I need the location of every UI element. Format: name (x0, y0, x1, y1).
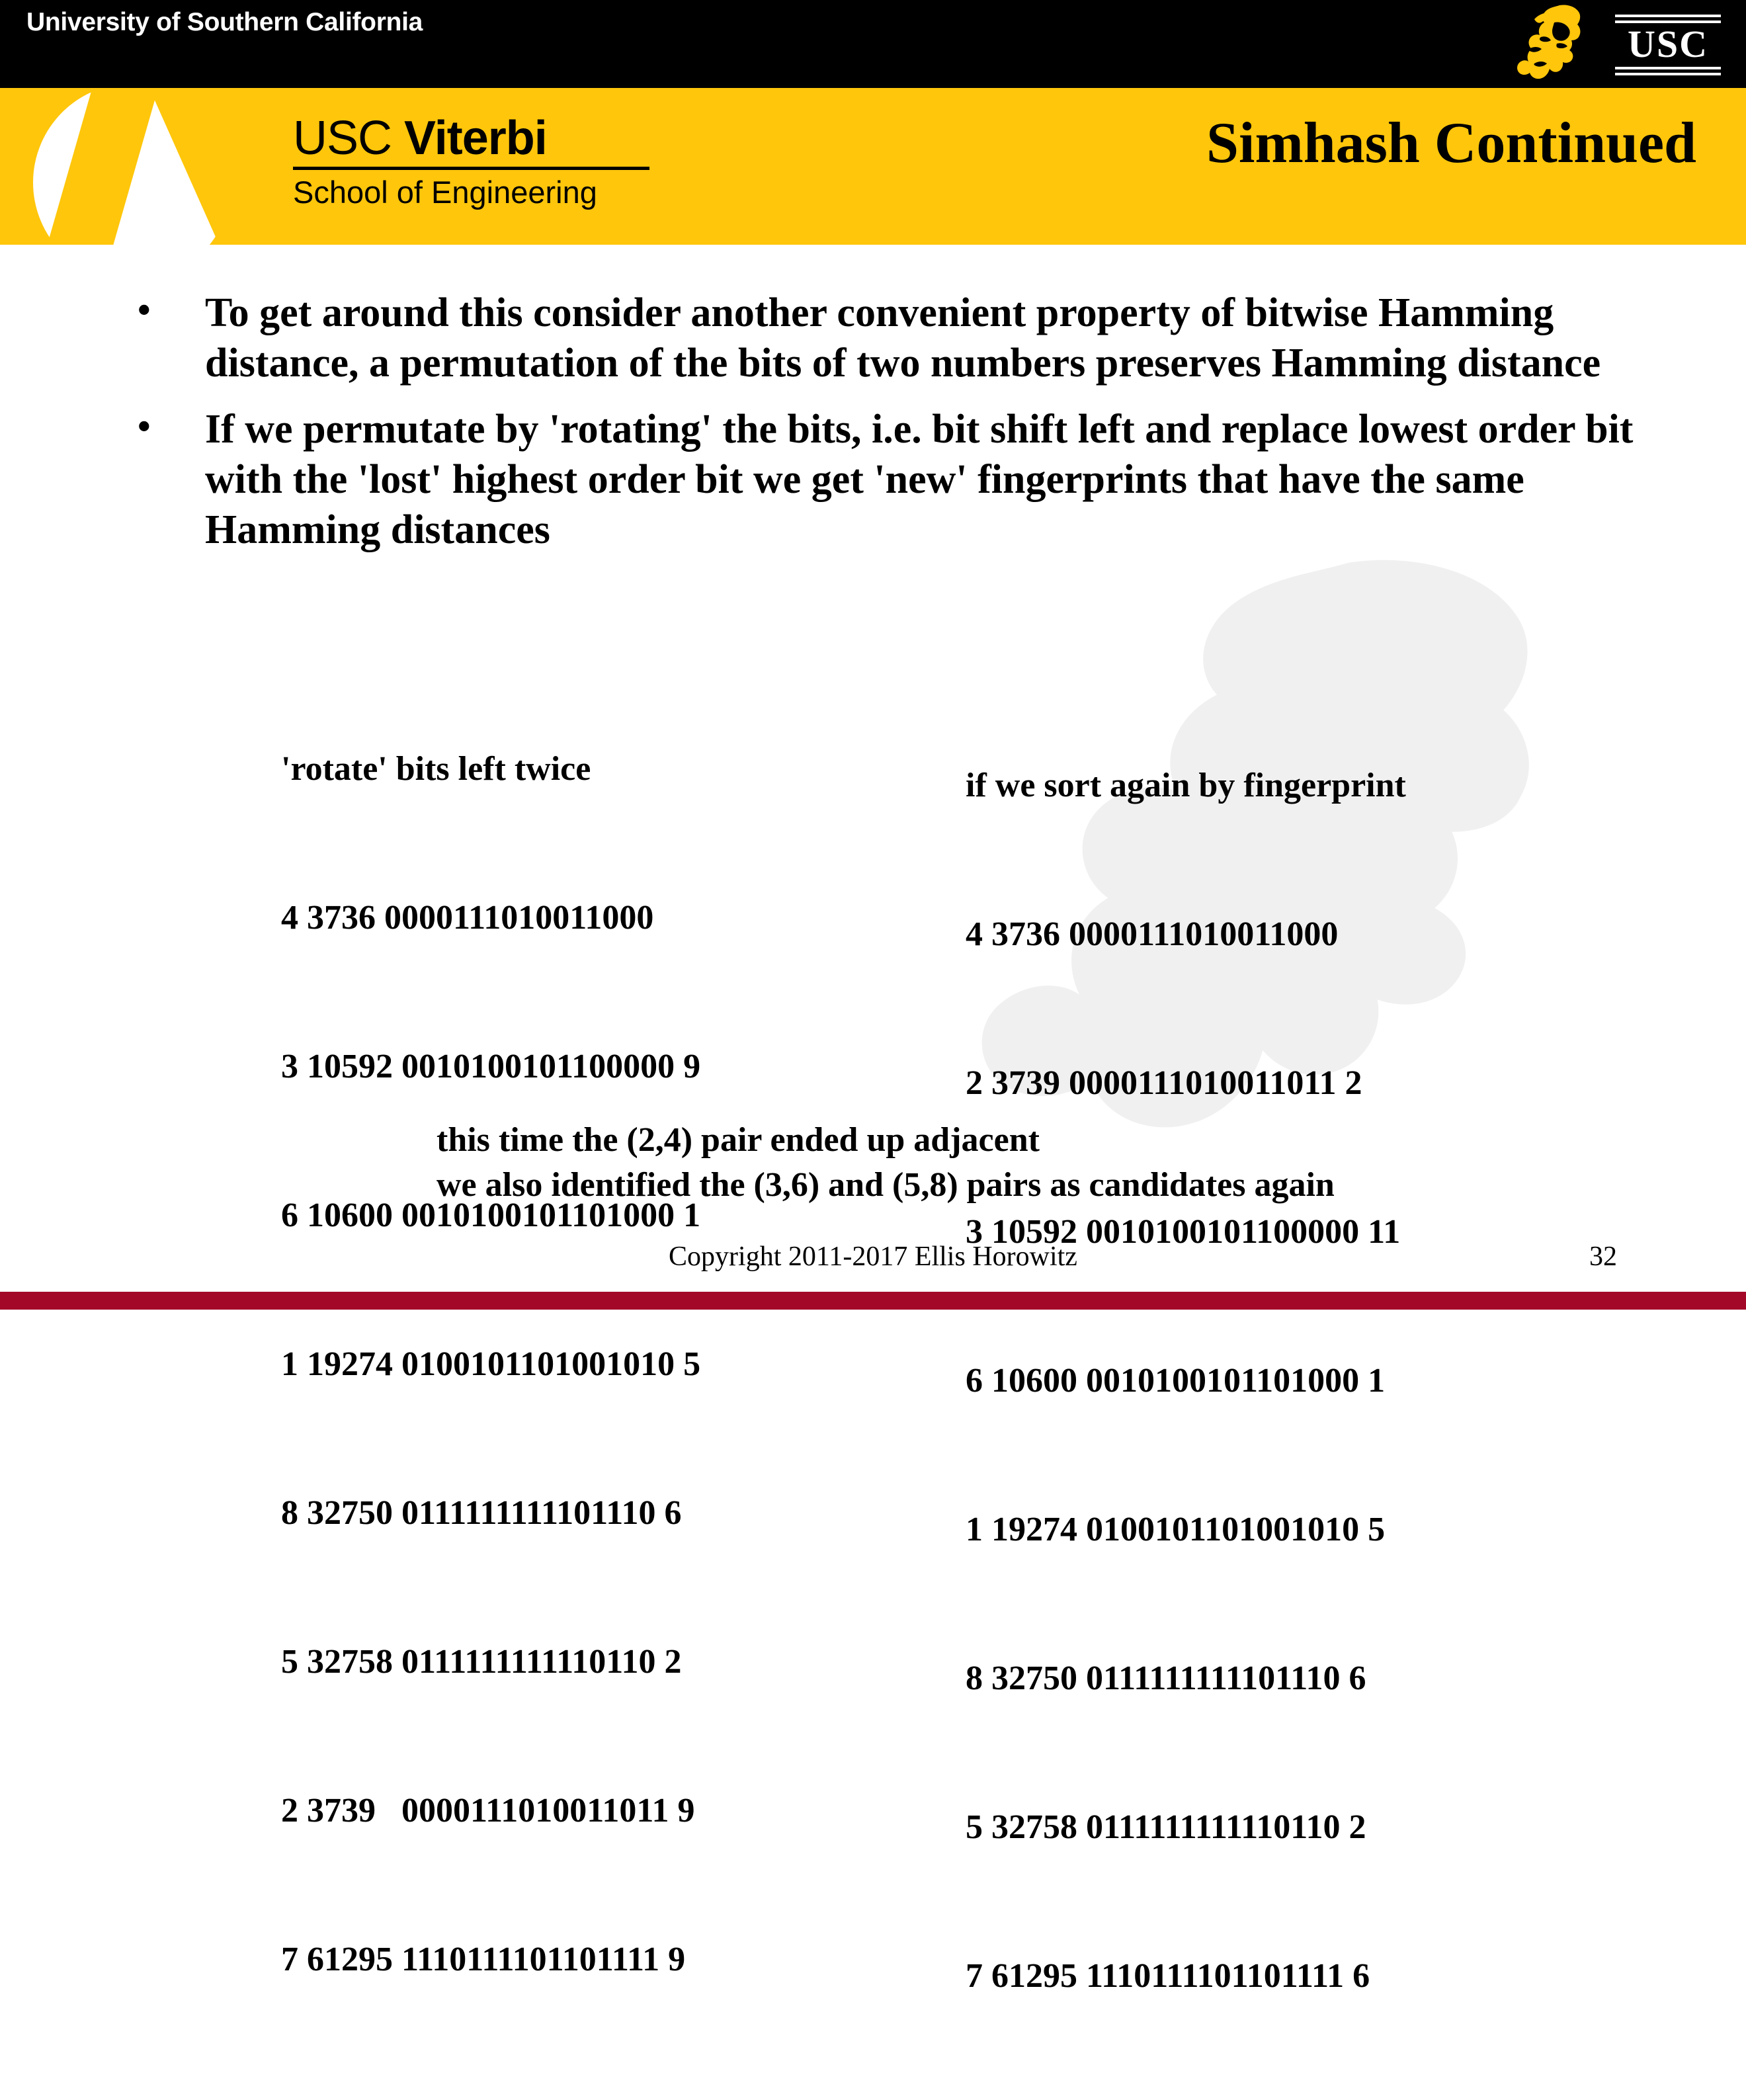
bullet-marker: • (138, 401, 151, 452)
data-row: 8 32750 0111111111101110 6 (966, 1654, 1406, 1703)
viterbi-divider-rule (293, 167, 649, 170)
caption-block: this time the (2,4) pair ended up adjace… (436, 1118, 1335, 1208)
data-row: 7 61295 1110111101101111 6 (966, 1951, 1406, 2001)
data-row: 5 32758 0111111111110110 2 (966, 1802, 1406, 1852)
data-row: 1 19274 0100101101001010 5 (281, 1339, 700, 1389)
footer-red-bar (0, 1292, 1746, 1310)
data-row: 4 3736 0000111010011000 (966, 909, 1406, 959)
bullet-item-2: • If we permutate by 'rotating' the bits… (119, 404, 1634, 555)
data-row: 4 3736 0000111010011000 (281, 893, 700, 943)
data-row: 7 61295 1110111101101111 9 (281, 1935, 700, 1984)
viterbi-wordmark: USC Viterbi School of Engineering (293, 112, 670, 211)
bullet-text: To get around this consider another conv… (205, 290, 1600, 386)
usc-wordmark: USC (1615, 15, 1721, 75)
footer-page-number: 32 (1589, 1240, 1617, 1273)
data-row: 1 19274 0100101101001010 5 (966, 1505, 1406, 1554)
data-columns: 'rotate' bits left twice 4 3736 00001110… (0, 645, 1746, 1075)
viterbi-usc-text: USC (293, 112, 404, 165)
bullet-marker: • (138, 285, 151, 335)
usc-rule-bottom (1615, 67, 1721, 69)
bullet-list: • To get around this consider another co… (119, 288, 1634, 571)
data-row: 2 3739 0000111010011011 2 (966, 1058, 1406, 1108)
data-row: 6 10600 0010100101101000 1 (966, 1356, 1406, 1406)
data-row: 5 32758 0111111111110110 2 (281, 1637, 700, 1687)
sorted-fingerprint-block: if we sort again by fingerprint 4 3736 0… (966, 661, 1406, 2100)
viterbi-v-logo-icon (20, 93, 258, 265)
caption-line-1: this time the (2,4) pair ended up adjace… (436, 1118, 1335, 1163)
usc-wordmark-text: USC (1615, 24, 1721, 65)
rotated-bits-block: 'rotate' bits left twice 4 3736 00001110… (281, 645, 700, 2083)
data-row: 8 32750 0111111111101110 6 (281, 1488, 700, 1538)
trojan-head-icon (1515, 3, 1594, 85)
footer-copyright: Copyright 2011-2017 Ellis Horowitz (0, 1240, 1746, 1273)
bullet-item-1: • To get around this consider another co… (119, 288, 1634, 388)
usc-rule-top (1615, 15, 1721, 17)
viterbi-subtitle: School of Engineering (293, 174, 670, 211)
usc-rule-bottom-2 (1615, 73, 1721, 75)
caption-line-2: we also identified the (3,6) and (5,8) p… (436, 1163, 1335, 1208)
viterbi-name-text: Viterbi (404, 112, 547, 165)
bullet-text: If we permutate by 'rotating' the bits, … (205, 407, 1633, 552)
data-row: 3 10592 0010100101100000 9 (281, 1042, 700, 1091)
sorted-fingerprint-heading: if we sort again by fingerprint (966, 761, 1406, 810)
page-title: Simhash Continued (1206, 111, 1696, 176)
university-name: University of Southern California (26, 8, 423, 37)
rotated-bits-heading: 'rotate' bits left twice (281, 744, 700, 794)
data-row: 2 3739 0000111010011011 9 (281, 1786, 700, 1835)
